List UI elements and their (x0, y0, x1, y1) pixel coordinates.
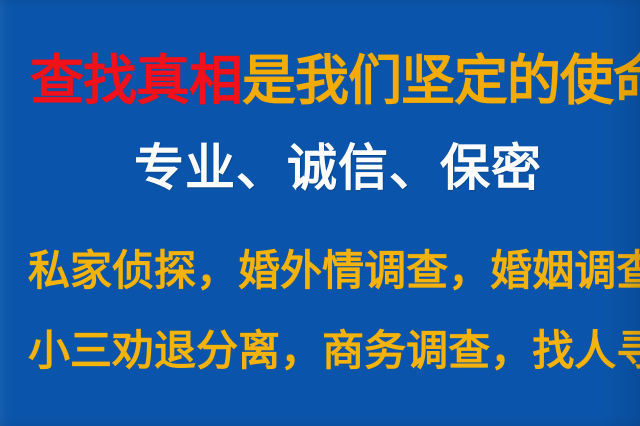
glyph: 外 (280, 250, 322, 292)
glyph: ， (196, 250, 238, 292)
glyph: 信 (338, 143, 389, 193)
glyph: 、 (236, 143, 287, 193)
glyph: 三 (70, 330, 112, 372)
glyph: ， (280, 330, 322, 372)
glyph: 姻 (532, 250, 574, 292)
glyph: 寻 (616, 330, 640, 372)
glyph: 退 (154, 330, 196, 372)
glyph: 劝 (112, 330, 154, 372)
values-slogan: 专业、诚信、保密 (134, 143, 532, 193)
headline-remainder-text: 是我们坚定的使命 (242, 54, 640, 108)
glyph: 业 (185, 143, 236, 193)
glyph: 私 (28, 250, 70, 292)
glyph: 调 (406, 330, 448, 372)
glyph: 务 (364, 330, 406, 372)
services-list-line-1: 私家侦探，婚外情调查，婚姻调查， (28, 250, 612, 292)
glyph: 情 (322, 250, 364, 292)
headline-emphasis-text: 查找真相 (30, 54, 242, 108)
glyph: 调 (364, 250, 406, 292)
glyph: 密 (491, 143, 542, 193)
glyph: 家 (70, 250, 112, 292)
glyph: 小 (28, 330, 70, 372)
glyph: 专 (134, 143, 185, 193)
headline-slogan: 查找真相 是我们坚定的使命 (30, 54, 612, 108)
glyph: 婚 (490, 250, 532, 292)
services-list-line-2: 小三劝退分离，商务调查，找人寻人 (28, 330, 612, 372)
glyph: 查 (616, 250, 640, 292)
advertisement-banner: 查找真相 是我们坚定的使命 专业、诚信、保密 私家侦探，婚外情调查，婚姻调查， … (0, 0, 640, 426)
glyph: 调 (574, 250, 616, 292)
glyph: 商 (322, 330, 364, 372)
glyph: 离 (238, 330, 280, 372)
glyph: 查 (406, 250, 448, 292)
glyph: 、 (389, 143, 440, 193)
glyph: 诚 (287, 143, 338, 193)
glyph: 婚 (238, 250, 280, 292)
glyph: 人 (574, 330, 616, 372)
glyph: ， (448, 250, 490, 292)
glyph: 探 (154, 250, 196, 292)
glyph: 侦 (112, 250, 154, 292)
glyph: 保 (440, 143, 491, 193)
glyph: 分 (196, 330, 238, 372)
glyph: ， (490, 330, 532, 372)
glyph: 找 (532, 330, 574, 372)
glyph: 查 (448, 330, 490, 372)
